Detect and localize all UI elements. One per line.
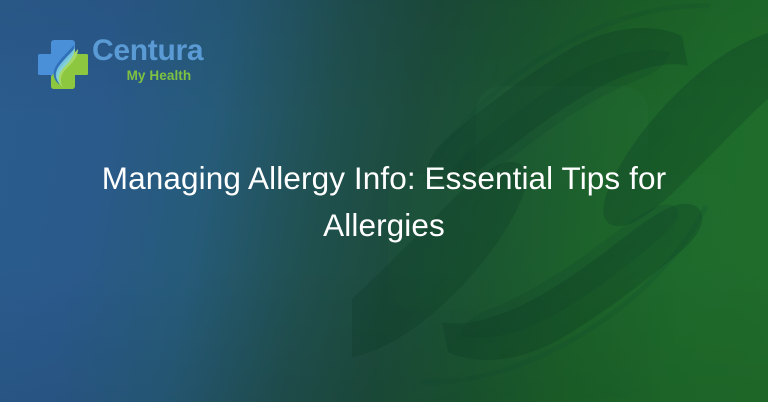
article-hero-banner: Centura My Health Managing Allergy Info:… [0, 0, 768, 402]
brand-tagline: My Health [127, 69, 192, 83]
logo-wordmark: Centura My Health [92, 36, 203, 83]
medical-cross-swoosh-icon [38, 38, 88, 90]
brand-name: Centura [92, 36, 203, 66]
centura-my-health-logo[interactable]: Centura My Health [38, 36, 203, 90]
page-title: Managing Allergy Info: Essential Tips fo… [64, 155, 704, 249]
